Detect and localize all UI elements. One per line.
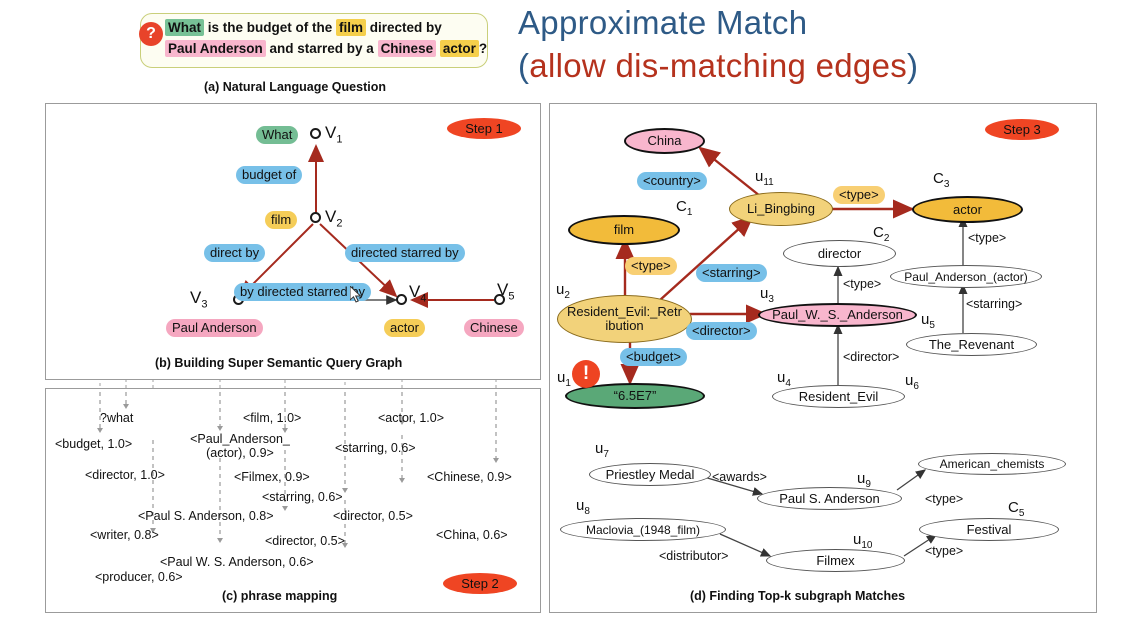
phrase-director-3: <director, 0.5> — [265, 534, 345, 548]
question-mark-icon: ? — [139, 22, 163, 46]
question-highlight-what: What — [165, 19, 204, 36]
vertex-node-v4[interactable] — [396, 294, 407, 305]
node-tag-u2: u2 — [556, 281, 570, 301]
phrase-director-1: <director, 1.0> — [85, 468, 165, 482]
phrase-paul-anderson-actor: <Paul_Anderson_(actor), 0.9> — [180, 432, 300, 460]
vertex-sub-3: 3 — [201, 298, 207, 310]
sub-u7: 7 — [603, 449, 609, 460]
node-american-chemists[interactable]: American_chemists — [918, 453, 1066, 475]
vertex-label-v3: V3 — [190, 288, 207, 310]
sub-u10: 10 — [861, 540, 872, 551]
phrase-budget: <budget, 1.0> — [55, 437, 132, 451]
phrase-chinese: <Chinese, 0.9> — [427, 470, 512, 484]
edge-label-country[interactable]: <country> — [637, 172, 707, 190]
chip-paul-anderson[interactable]: Paul Anderson — [166, 319, 263, 337]
edge-label-starring-revenant: <starring> — [966, 297, 1022, 311]
node-the-revenant[interactable]: The_Revenant — [906, 333, 1037, 356]
sub-u2: 2 — [564, 290, 570, 301]
vertex-sub-5: 5 — [508, 290, 514, 302]
mouse-cursor-icon — [350, 286, 362, 303]
question-text-1: is the budget of the — [204, 20, 336, 35]
question-highlight-actor: actor — [440, 40, 479, 57]
chip-film[interactable]: film — [265, 211, 297, 229]
node-tag-c2: C2 — [873, 224, 889, 244]
sub-u3: 3 — [768, 294, 774, 305]
node-rer-line2: ibution — [605, 319, 643, 333]
edge-label-awards: <awards> — [712, 470, 767, 484]
phrase-what: ?what — [100, 411, 133, 425]
node-tag-u6: u6 — [905, 372, 919, 392]
node-director[interactable]: director — [783, 240, 896, 267]
node-filmex[interactable]: Filmex — [766, 549, 905, 572]
chip-directed-starred-by[interactable]: directed starred by — [345, 244, 465, 262]
chip-what[interactable]: What — [256, 126, 298, 144]
question-line-2: Paul Anderson and starred by a Chinese a… — [165, 41, 487, 56]
paren-close: ) — [907, 47, 918, 84]
question-qmark: ? — [479, 41, 487, 56]
sub-c1: 1 — [687, 207, 693, 218]
panel-query-graph — [45, 103, 541, 380]
node-tag-c1: C1 — [676, 198, 692, 218]
question-highlight-film: film — [336, 19, 366, 36]
sub-u6: 6 — [913, 381, 919, 392]
caption-d: (d) Finding Top-k subgraph Matches — [690, 589, 905, 603]
sub-u9: 9 — [865, 479, 871, 490]
phrase-paul-s-anderson: <Paul S. Anderson, 0.8> — [138, 509, 274, 523]
phrase-writer: <writer, 0.8> — [90, 528, 159, 542]
node-li-bingbing[interactable]: Li_Bingbing — [729, 192, 833, 226]
sub-c5: 5 — [1019, 508, 1025, 519]
sub-c3: 3 — [944, 179, 950, 190]
node-tag-u10: u10 — [853, 531, 872, 551]
node-tag-c3: C3 — [933, 170, 949, 190]
node-resident-evil-retribution[interactable]: Resident_Evil:_Retr ibution — [557, 295, 692, 343]
page-title-line2: (allow dis-matching edges) — [518, 47, 918, 85]
paren-open: ( — [518, 47, 529, 84]
phrase-pa-line1: <Paul_Anderson_ — [190, 432, 290, 446]
node-festival[interactable]: Festival — [919, 518, 1059, 541]
node-paul-anderson-actor[interactable]: Paul_Anderson_(actor) — [890, 265, 1042, 288]
sub-11: 11 — [763, 177, 773, 188]
phrase-producer: <producer, 0.6> — [95, 570, 183, 584]
vertex-label-v4: V4 — [409, 282, 426, 304]
chip-direct-by[interactable]: direct by — [204, 244, 265, 262]
sub-u1: 1 — [565, 378, 571, 389]
node-paul-s-anderson[interactable]: Paul S. Anderson — [757, 487, 902, 510]
phrase-film: <film, 1.0> — [243, 411, 301, 425]
question-text-3: and starred by a — [266, 41, 378, 56]
node-tag-u3: u3 — [760, 285, 774, 305]
edge-label-type-director: <type> — [843, 277, 881, 291]
node-tag-u8: u8 — [576, 497, 590, 517]
node-actor[interactable]: actor — [912, 196, 1023, 223]
chip-chinese[interactable]: Chinese — [464, 319, 524, 337]
node-resident-evil[interactable]: Resident_Evil — [772, 385, 905, 408]
sub-u4: 4 — [785, 378, 791, 389]
edge-label-type-actor[interactable]: <type> — [833, 186, 885, 204]
node-tag-c5: C5 — [1008, 499, 1024, 519]
vertex-node-v2[interactable] — [310, 212, 321, 223]
question-highlight-chinese: Chinese — [378, 40, 437, 57]
node-rer-line1: Resident_Evil:_Retr — [567, 305, 682, 319]
edge-label-starring[interactable]: <starring> — [696, 264, 767, 282]
edge-label-director[interactable]: <director> — [686, 322, 757, 340]
edge-label-type-chemists: <type> — [925, 492, 963, 506]
warning-icon: ! — [572, 360, 600, 388]
node-china[interactable]: China — [624, 128, 705, 154]
edge-label-type-festival: <type> — [925, 544, 963, 558]
question-box: What is the budget of the film directed … — [140, 13, 488, 68]
phrase-paul-w-s-anderson: <Paul W. S. Anderson, 0.6> — [160, 555, 314, 569]
vertex-sub-2: 2 — [336, 217, 342, 229]
node-tag-u11: u11 — [755, 168, 774, 188]
node-priestley-medal[interactable]: Priestley Medal — [589, 463, 711, 486]
step2-badge: Step 2 — [443, 573, 517, 594]
phrase-filmex: <Filmex, 0.9> — [234, 470, 310, 484]
vertex-sub-1: 1 — [336, 133, 342, 145]
caption-b: (b) Building Super Semantic Query Graph — [155, 356, 402, 370]
vertex-label-v2: V2 — [325, 207, 342, 229]
caption-c: (c) phrase mapping — [222, 589, 337, 603]
edge-label-type-pa-actor: <type> — [968, 231, 1006, 245]
node-maclovia[interactable]: Maclovia_(1948_film) — [560, 518, 726, 541]
phrase-director-2: <director, 0.5> — [333, 509, 413, 523]
phrase-actor: <actor, 1.0> — [378, 411, 444, 425]
vertex-label-v1: V1 — [325, 123, 342, 145]
node-film[interactable]: film — [568, 215, 680, 245]
caption-a: (a) Natural Language Question — [45, 80, 545, 94]
vertex-sub-4: 4 — [420, 292, 426, 304]
edge-label-director-re: <director> — [843, 350, 899, 364]
node-tag-u5: u5 — [921, 311, 935, 331]
phrase-china: <China, 0.6> — [436, 528, 508, 542]
vertex-node-v1[interactable] — [310, 128, 321, 139]
page-title-line1: Approximate Match — [518, 4, 807, 42]
sub-u8: 8 — [584, 506, 590, 517]
step3-badge: Step 3 — [985, 119, 1059, 140]
sub-c2: 2 — [884, 233, 890, 244]
node-tag-u4: u4 — [777, 369, 791, 389]
phrase-pa-line2: (actor), 0.9> — [206, 446, 274, 460]
edge-label-budget[interactable]: <budget> — [620, 348, 687, 366]
vertex-label-v5: V5 — [497, 280, 514, 302]
phrase-starring-1: <starring, 0.6> — [335, 441, 416, 455]
node-tag-u9: u9 — [857, 470, 871, 490]
question-text-2: directed by — [366, 20, 442, 35]
step1-badge: Step 1 — [447, 118, 521, 139]
edge-label-type-film[interactable]: <type> — [625, 257, 677, 275]
edge-label-distributor: <distributor> — [659, 549, 728, 563]
title-red-text: allow dis-matching edges — [529, 47, 907, 84]
chip-budget-of[interactable]: budget of — [236, 166, 302, 184]
node-tag-u1: u1 — [557, 369, 571, 389]
question-line-1: What is the budget of the film directed … — [165, 20, 442, 35]
question-highlight-paul-anderson: Paul Anderson — [165, 40, 266, 57]
chip-actor[interactable]: actor — [384, 319, 425, 337]
sub-u5: 5 — [929, 320, 935, 331]
phrase-starring-2: <starring, 0.6> — [262, 490, 343, 504]
node-paul-w-s-anderson[interactable]: Paul_W._S._Anderson — [758, 303, 917, 327]
node-tag-u7: u7 — [595, 440, 609, 460]
